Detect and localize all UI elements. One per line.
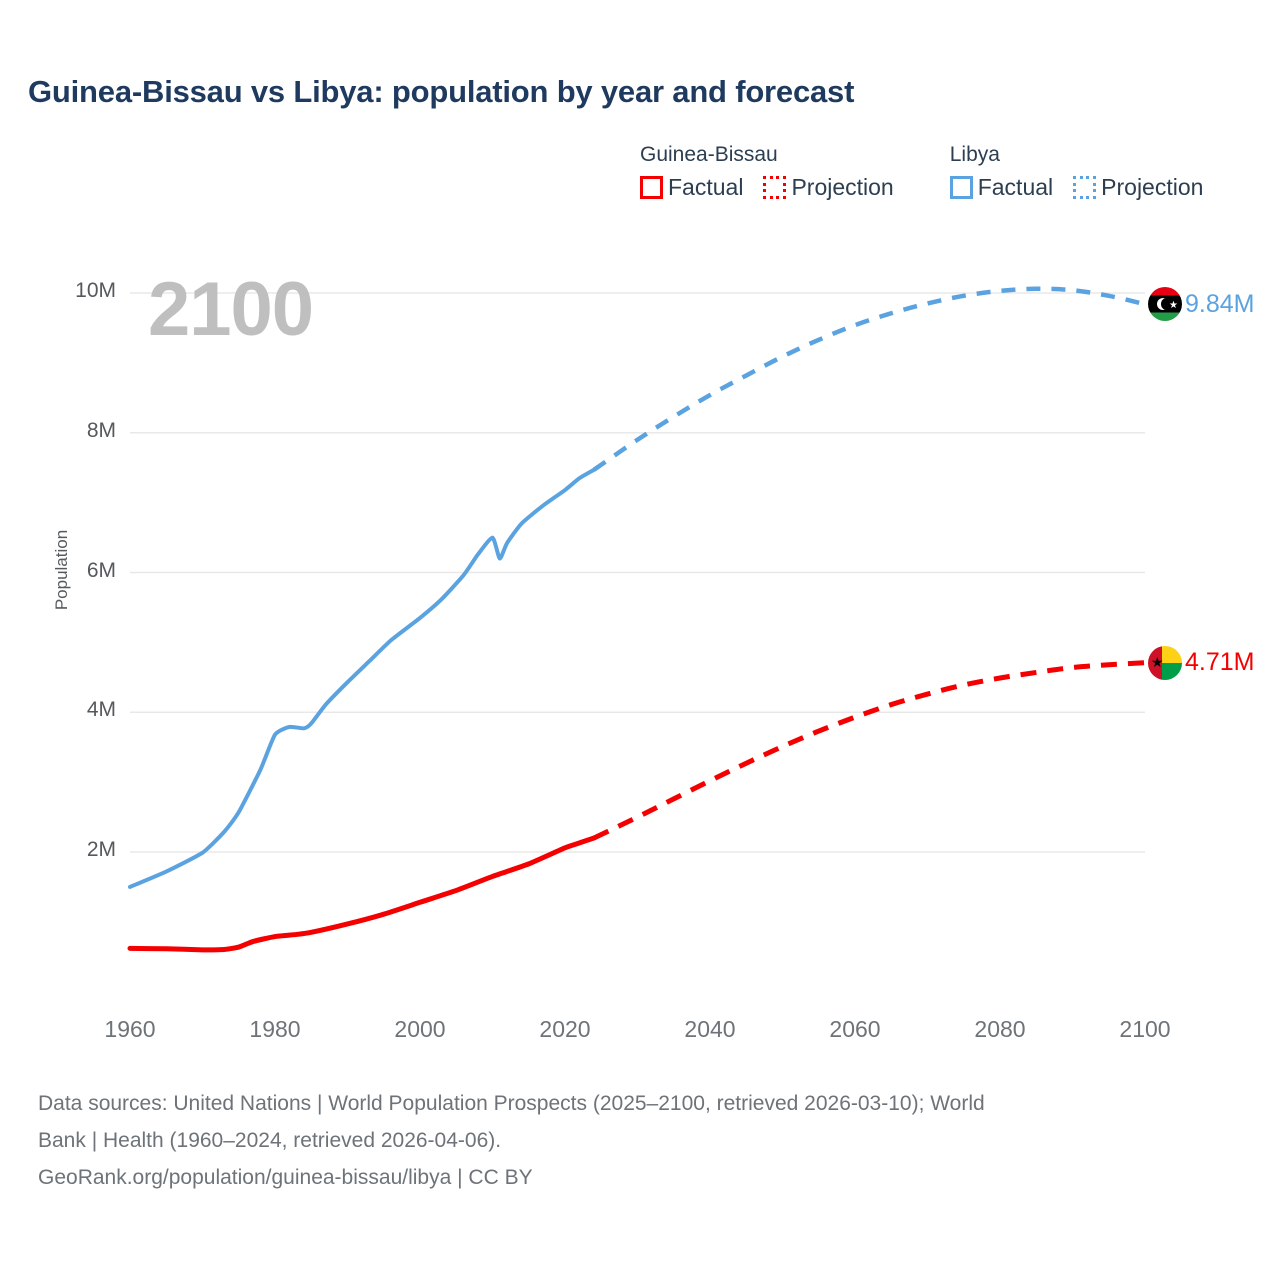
footer-data-sources-line1: Data sources: United Nations | World Pop… <box>38 1085 1258 1122</box>
footer-attribution: GeoRank.org/population/guinea-bissau/lib… <box>38 1159 1258 1196</box>
x-axis-tick-label: 1960 <box>80 1016 180 1043</box>
chart-svg <box>0 0 1280 1060</box>
end-label-value: 9.84M <box>1185 290 1254 319</box>
y-axis-tick-label: 2M <box>36 838 116 862</box>
guinea-bissau-flag-icon: ★ <box>1148 646 1182 680</box>
x-axis-tick-label: 2020 <box>515 1016 615 1043</box>
x-axis-tick-label: 2080 <box>950 1016 1050 1043</box>
series-line-projection <box>594 289 1145 470</box>
chart-series <box>130 289 1145 950</box>
x-axis-tick-label: 2000 <box>370 1016 470 1043</box>
end-label-libya: ★ 9.84M <box>1148 287 1254 321</box>
end-label-guinea-bissau: ★ 4.71M <box>1148 646 1254 680</box>
y-axis-tick-label: 8M <box>36 419 116 443</box>
y-axis-tick-label: 4M <box>36 698 116 722</box>
end-label-value: 4.71M <box>1185 648 1254 677</box>
chart-gridlines <box>130 293 1145 852</box>
series-line-projection <box>594 663 1145 838</box>
x-axis-tick-label: 2040 <box>660 1016 760 1043</box>
y-axis-tick-label: 6M <box>36 559 116 583</box>
x-axis-tick-label: 2060 <box>805 1016 905 1043</box>
x-axis-tick-label: 2100 <box>1095 1016 1195 1043</box>
y-axis-tick-label: 10M <box>36 279 116 303</box>
year-watermark: 2100 <box>148 272 313 348</box>
series-line-factual <box>130 470 594 887</box>
footer-data-sources-line2: Bank | Health (1960–2024, retrieved 2026… <box>38 1122 1258 1159</box>
libya-flag-icon: ★ <box>1148 287 1182 321</box>
footer: Data sources: United Nations | World Pop… <box>38 1085 1258 1196</box>
chart-plot-area <box>0 0 1280 1060</box>
x-axis-tick-label: 1980 <box>225 1016 325 1043</box>
